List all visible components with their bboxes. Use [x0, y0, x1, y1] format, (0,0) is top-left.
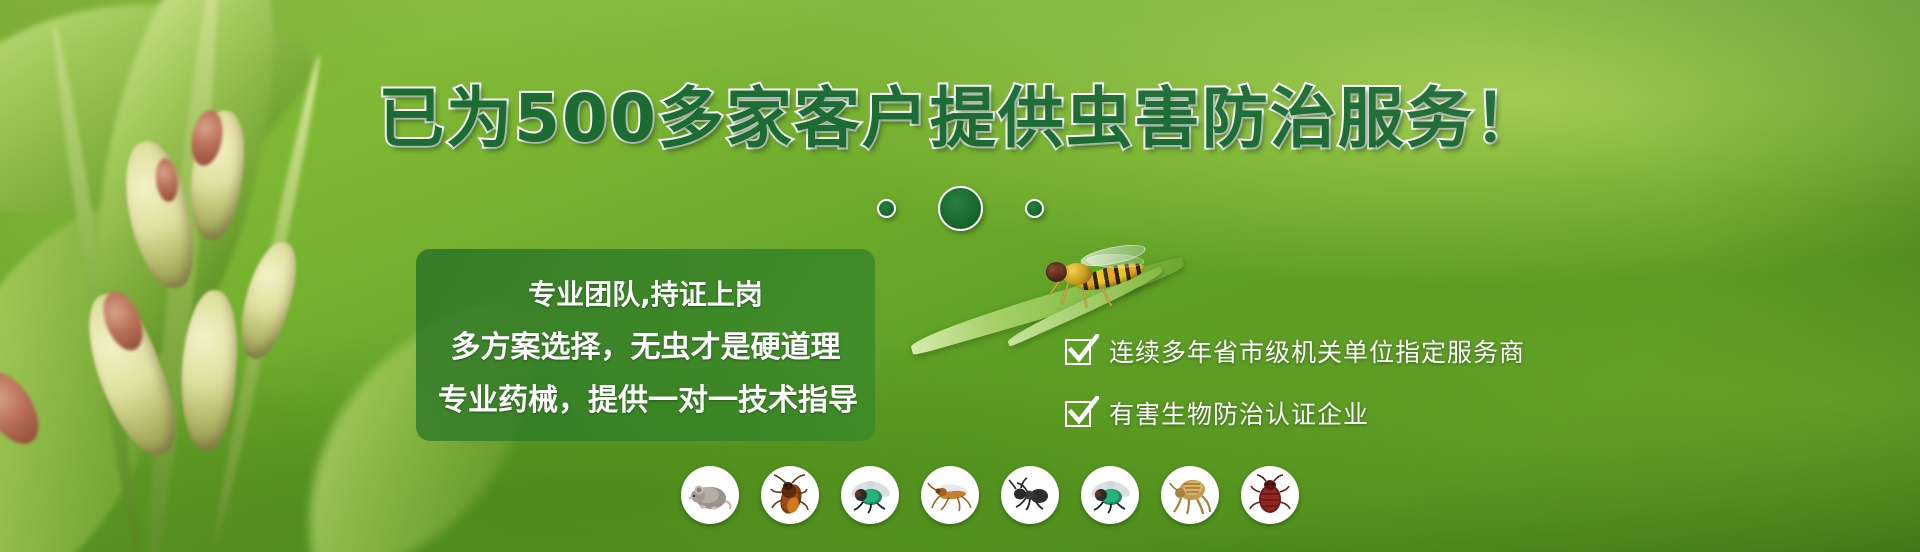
dot-small-icon	[877, 199, 896, 218]
pest-icon-row	[681, 466, 1299, 524]
checklist-item-label: 有害生物防治认证企业	[1109, 395, 1369, 431]
checklist-item: 有害生物防治认证企业	[1065, 395, 1525, 431]
bedbug-icon[interactable]	[1241, 466, 1299, 524]
decorative-dots	[0, 186, 1920, 231]
slogan-line-1: 专业团队,持证上岗	[438, 273, 853, 313]
banner-headline-text: 已为500多家客户提供虫害防治服务！	[378, 80, 1542, 157]
flea-icon[interactable]	[1161, 466, 1219, 524]
cockroach-icon[interactable]	[761, 466, 819, 524]
fly-icon[interactable]	[1081, 466, 1139, 524]
slogan-panel: 专业团队,持证上岗 多方案选择，无虫才是硬道理 专业药械，提供一对一技术指导	[416, 249, 875, 441]
checkbox-checked-icon	[1065, 336, 1095, 366]
mouse-icon[interactable]	[681, 466, 739, 524]
dot-small-icon	[1025, 199, 1044, 218]
banner-headline: 已为500多家客户提供虫害防治服务！	[0, 86, 1920, 152]
plant-bud	[230, 236, 305, 363]
checklist-item-label: 连续多年省市级机关单位指定服务商	[1109, 333, 1525, 369]
mosquito-icon[interactable]	[921, 466, 979, 524]
slogan-line-2: 多方案选择，无虫才是硬道理	[438, 322, 853, 366]
hoverfly-photo	[1040, 245, 1160, 307]
slogan-line-3: 专业药械，提供一对一技术指导	[438, 375, 853, 419]
checkbox-checked-icon	[1065, 398, 1095, 428]
fly-icon[interactable]	[841, 466, 899, 524]
checklist-item: 连续多年省市级机关单位指定服务商	[1065, 333, 1525, 369]
credentials-checklist: 连续多年省市级机关单位指定服务商 有害生物防治认证企业	[1065, 333, 1525, 431]
ant-icon[interactable]	[1001, 466, 1059, 524]
dot-large-icon	[938, 186, 983, 231]
pest-control-hero-banner: 已为500多家客户提供虫害防治服务！ 专业团队,持证上岗 多方案选择，无虫才是硬…	[0, 0, 1920, 552]
